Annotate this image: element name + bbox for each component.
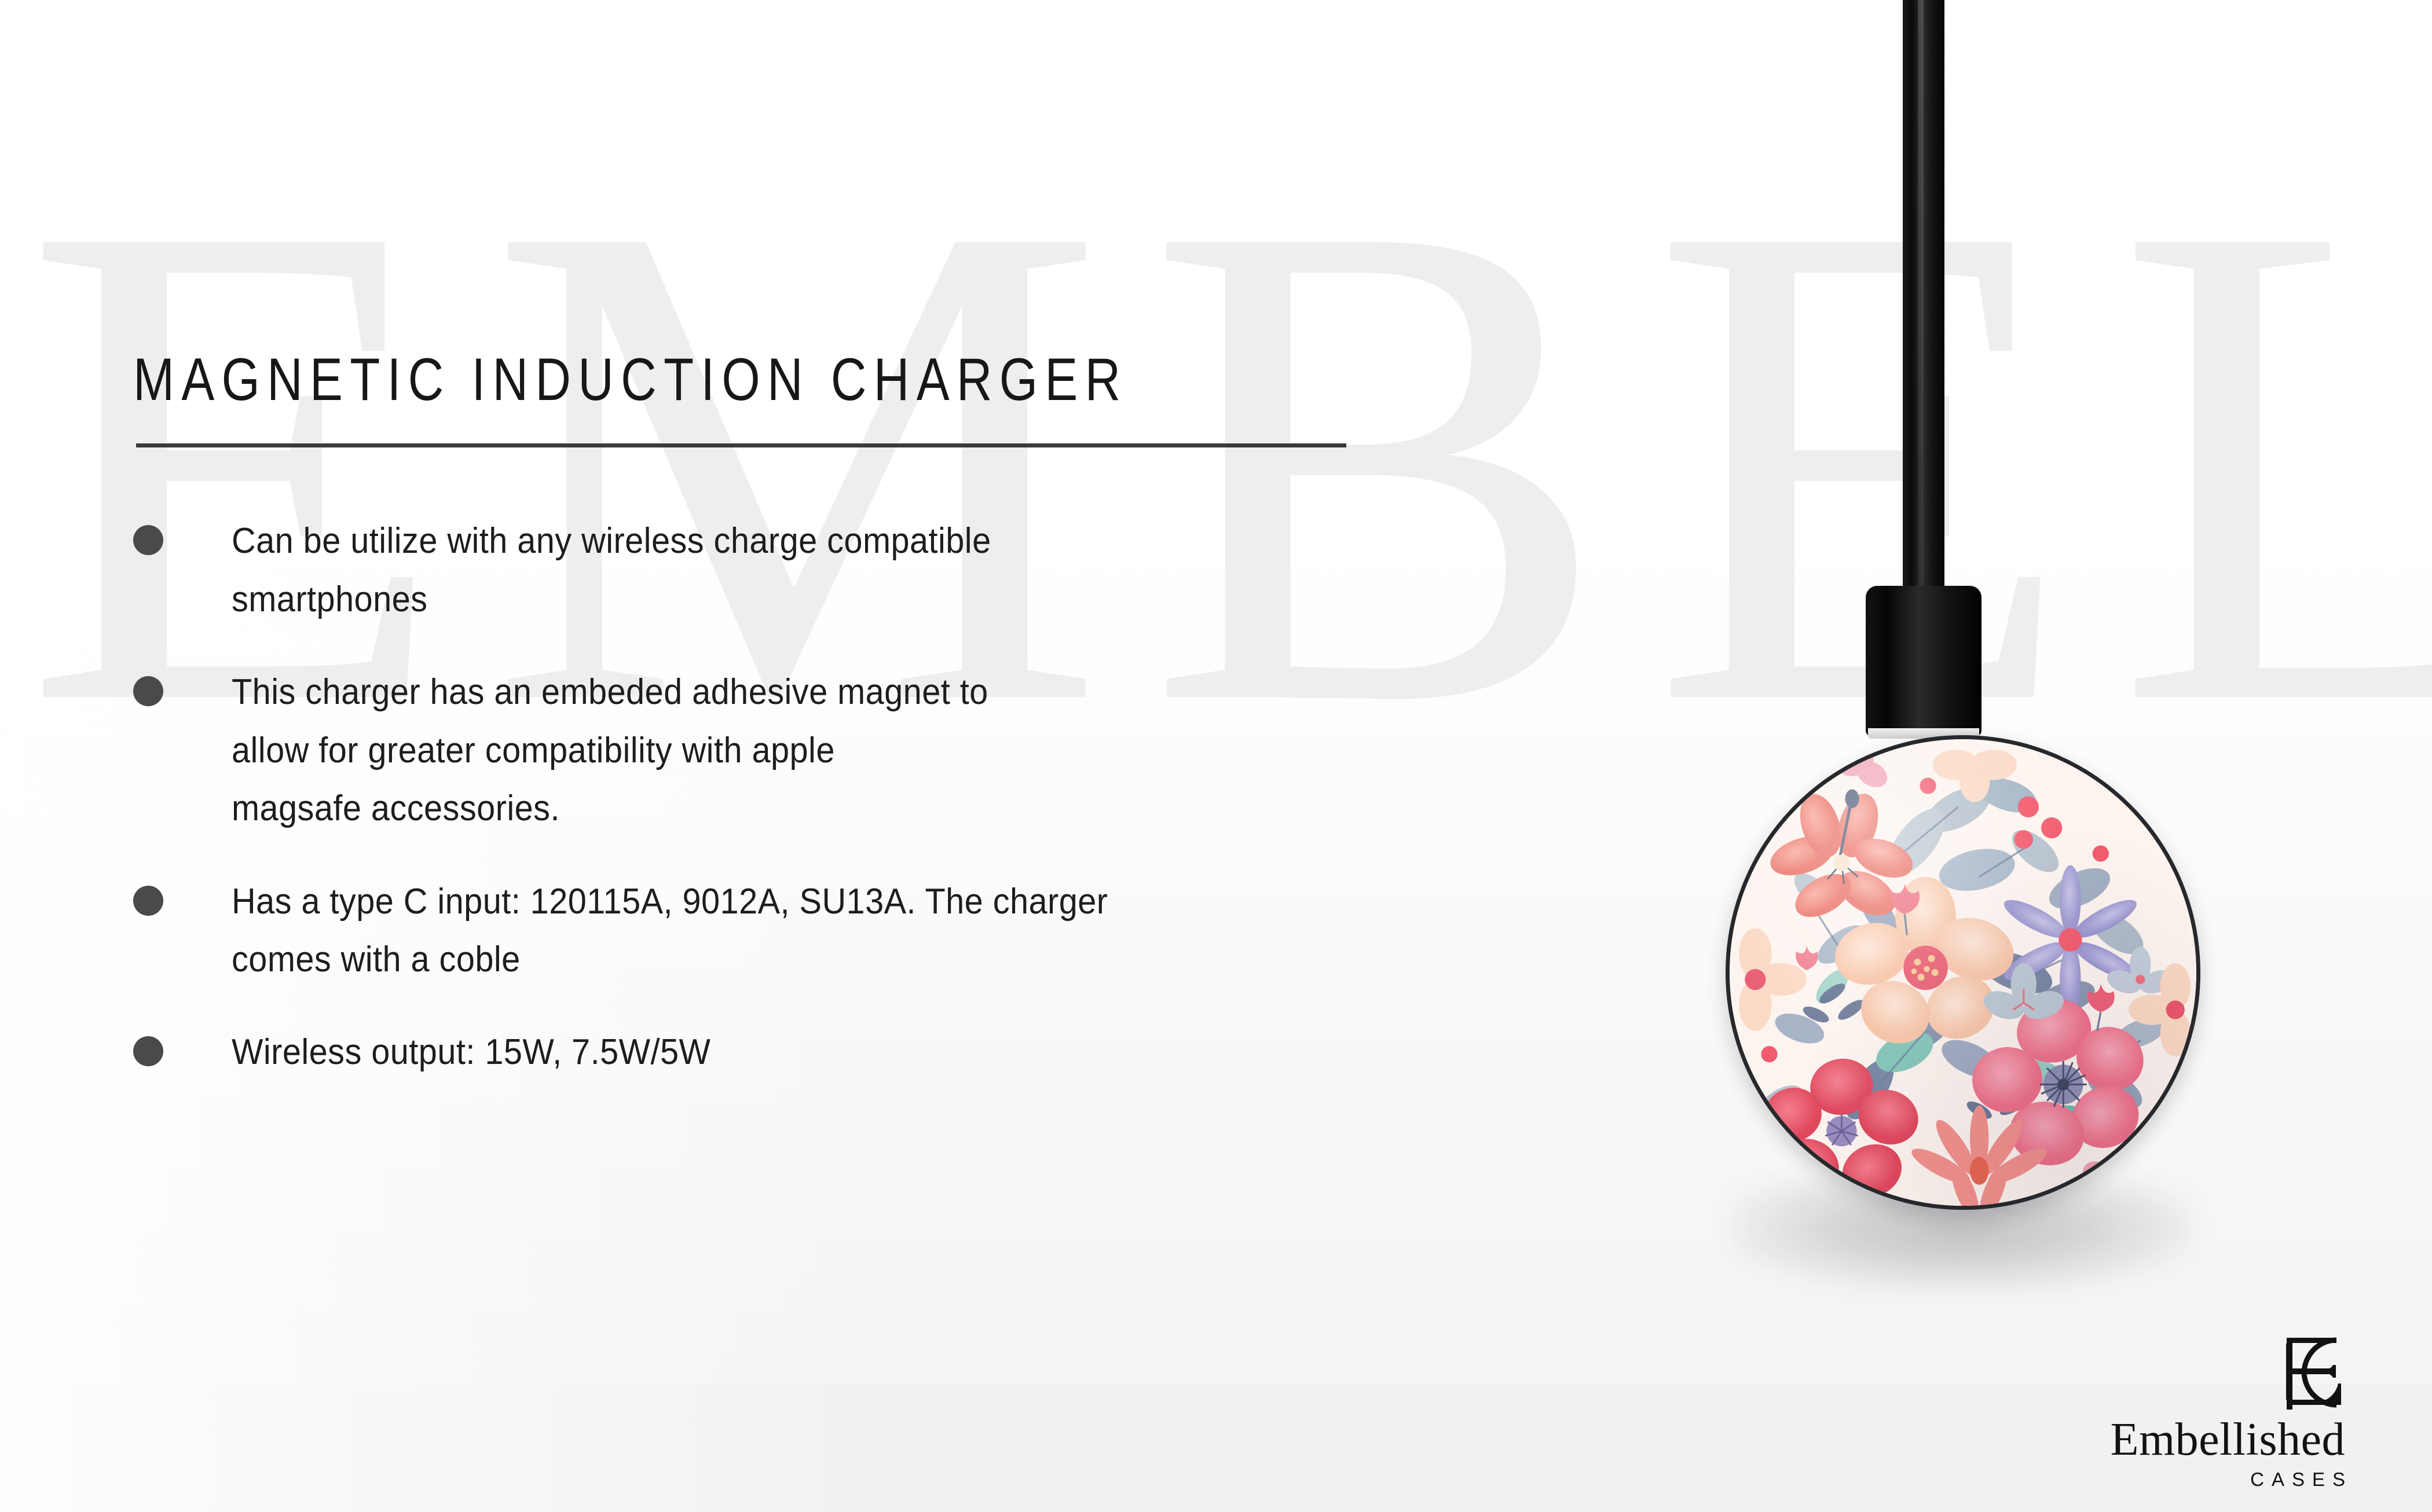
feature-text: This charger has an embeded adhesive mag… <box>232 663 988 838</box>
usb-c-connector <box>1866 586 1982 736</box>
brand-tagline: CASES <box>2096 1470 2353 1489</box>
feature-text: Has a type C input: 120115A, 9012A, SU13… <box>232 873 1108 989</box>
brand-name: Embellished <box>2096 1416 2345 1463</box>
feature-text: Wireless output: 15W, 7.5W/5W <box>232 1023 710 1081</box>
e-monogram-icon <box>2277 1335 2345 1412</box>
cable-highlight <box>1918 0 1924 596</box>
title-divider <box>136 443 1346 447</box>
product-feature-slide: EMBEL MAGNETIC INDUCTION CHARGER Can be … <box>0 0 2432 1512</box>
feature-list: Can be utilize with any wireless charge … <box>133 512 1465 1082</box>
list-item: Has a type C input: 120115A, 9012A, SU13… <box>133 873 1465 989</box>
charger-puck <box>1726 735 2200 1210</box>
brand-logo: Embellished CASES <box>2096 1335 2345 1489</box>
bullet-dot-icon <box>133 886 163 916</box>
background-bottom-band <box>0 1385 2432 1512</box>
list-item: Wireless output: 15W, 7.5W/5W <box>133 1023 1465 1081</box>
charging-cable <box>1903 0 1944 596</box>
feature-text: Can be utilize with any wireless charge … <box>232 512 991 629</box>
copy-block: MAGNETIC INDUCTION CHARGER Can be utiliz… <box>133 347 1465 1082</box>
bullet-dot-icon <box>133 1036 163 1066</box>
page-title: MAGNETIC INDUCTION CHARGER <box>133 347 1225 412</box>
floral-pattern-artwork <box>1730 739 2196 1206</box>
bullet-dot-icon <box>133 525 163 555</box>
bullet-dot-icon <box>133 676 163 706</box>
list-item: This charger has an embeded adhesive mag… <box>133 663 1465 838</box>
product-image <box>1714 0 2212 1331</box>
list-item: Can be utilize with any wireless charge … <box>133 512 1465 629</box>
